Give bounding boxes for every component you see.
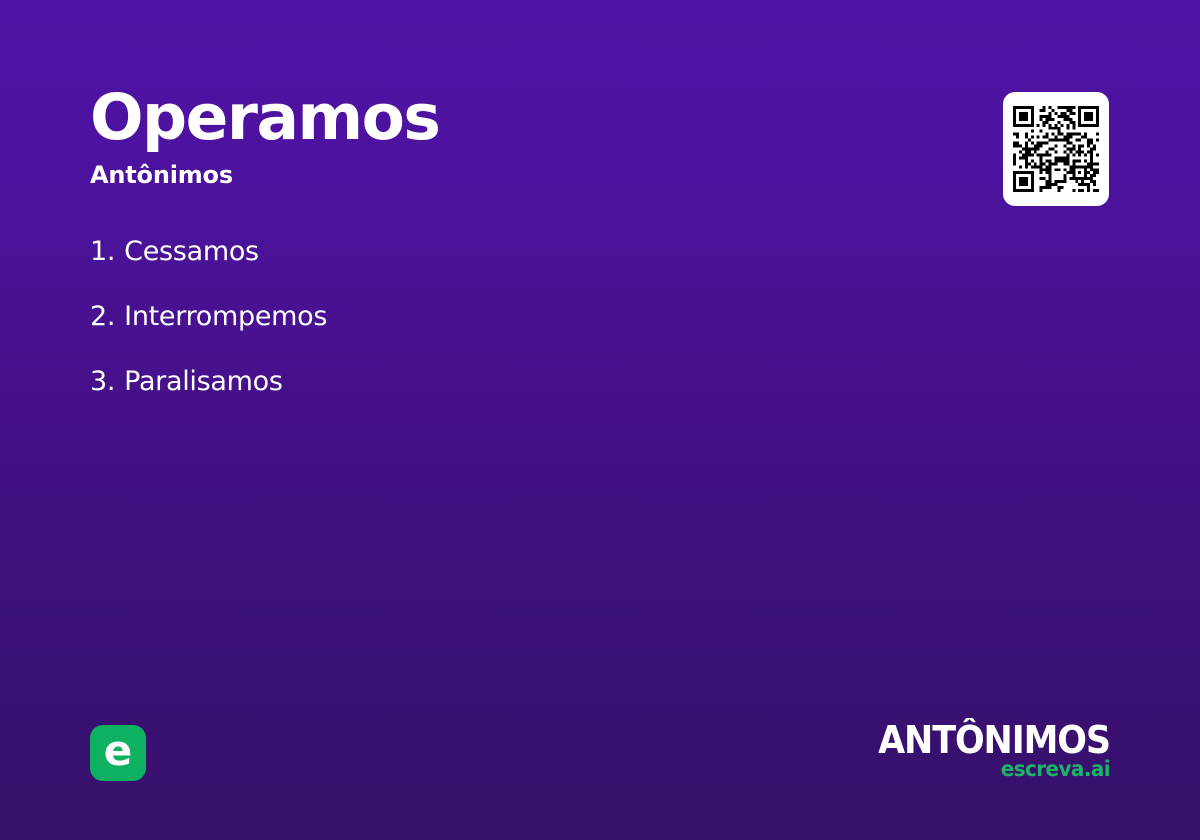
qr-code-icon [1013,106,1099,192]
brand-name: ANTÔNIMOS [806,722,1110,758]
list-item-word: Interrompemos [124,303,327,330]
antonym-list: 1. Cessamos 2. Interrompemos 3. Paralisa… [90,238,890,433]
app-icon-letter: e [104,730,133,772]
brand-sub: escreva.ai [797,759,1111,780]
list-item-word: Paralisamos [124,368,282,395]
list-item-index: 2. [90,303,115,330]
page-title: Operamos [90,86,790,149]
word-card-slide: Operamos Antônimos 1. Cessamos 2. Interr… [0,0,1200,840]
list-item-index: 1. [90,238,115,265]
headline-block: Operamos Antônimos [90,86,790,188]
page-subtitle: Antônimos [90,162,790,188]
escreva-app-icon[interactable]: e [90,725,146,781]
list-item-index: 3. [90,368,115,395]
list-item: 1. Cessamos [90,238,890,265]
list-item: 2. Interrompemos [90,303,890,330]
qr-code[interactable] [1003,92,1109,206]
list-item: 3. Paralisamos [90,368,890,395]
list-item-word: Cessamos [124,238,259,265]
brand-lockup: ANTÔNIMOS escreva.ai [780,722,1110,780]
